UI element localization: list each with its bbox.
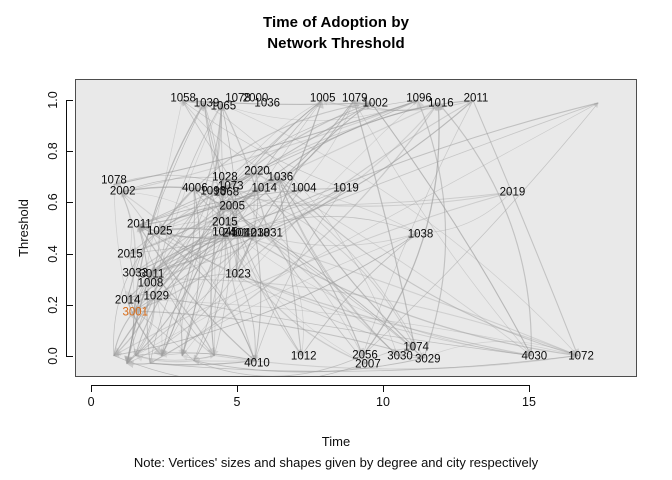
node-label: 1012 bbox=[291, 352, 317, 364]
node-label: 1004 bbox=[291, 183, 317, 195]
y-axis-tick-label: 0.4 bbox=[46, 245, 60, 262]
chart-root: Time of Adoption by Network Threshold 10… bbox=[0, 0, 672, 480]
y-axis-tick bbox=[66, 356, 73, 357]
node-label: 2015 bbox=[117, 249, 143, 261]
node-labels-layer: 1078200220111025201530333011100810292014… bbox=[76, 80, 636, 376]
x-axis-title: Time bbox=[0, 434, 672, 449]
node-label: 1023 bbox=[225, 269, 251, 281]
x-axis-tick bbox=[237, 385, 238, 392]
x-axis-tick bbox=[383, 385, 384, 392]
node-label: 2011 bbox=[464, 94, 489, 106]
node-label: 1036 bbox=[254, 99, 280, 111]
node-label: 2020 bbox=[244, 167, 270, 179]
x-axis-tick bbox=[91, 385, 92, 392]
node-label: 1016 bbox=[428, 99, 454, 111]
node-label: 1014 bbox=[252, 183, 278, 195]
node-label: 4030 bbox=[522, 352, 548, 364]
y-axis-tick bbox=[66, 151, 73, 152]
y-axis-tick-label: 0.8 bbox=[46, 142, 60, 159]
node-label: 1002 bbox=[362, 99, 388, 111]
node-label: 1073 bbox=[218, 181, 244, 193]
node-label: 3031 bbox=[257, 228, 283, 240]
chart-note: Note: Vertices' sizes and shapes given b… bbox=[0, 455, 672, 470]
y-axis-tick-label: 0.0 bbox=[46, 348, 60, 365]
x-axis-tick-label: 5 bbox=[234, 395, 241, 409]
node-label: 1038 bbox=[408, 230, 434, 242]
node-label: 2002 bbox=[110, 186, 136, 198]
x-axis-tick bbox=[529, 385, 530, 392]
x-axis-tick-label: 15 bbox=[522, 395, 536, 409]
node-label: 3029 bbox=[415, 354, 441, 366]
y-axis-tick-label: 0.2 bbox=[46, 296, 60, 313]
node-label: 2005 bbox=[219, 201, 245, 213]
node-label: 1029 bbox=[143, 291, 169, 303]
node-label: 1008 bbox=[138, 278, 164, 290]
node-label: 1025 bbox=[147, 226, 173, 238]
chart-title-line1: Time of Adoption by bbox=[0, 12, 672, 33]
y-axis-tick bbox=[66, 100, 73, 101]
node-label: 1058 bbox=[170, 94, 196, 106]
y-axis-line bbox=[66, 100, 67, 357]
node-label: 4010 bbox=[244, 358, 270, 370]
node-label: 1036 bbox=[268, 172, 294, 184]
y-axis-tick-label: 1.0 bbox=[46, 91, 60, 108]
plot-panel: 1078200220111025201530333011100810292014… bbox=[75, 79, 637, 377]
node-label: 2014 bbox=[115, 295, 141, 307]
y-axis-title: Threshold bbox=[16, 199, 31, 257]
node-label: 1005 bbox=[310, 94, 336, 106]
chart-title-line2: Network Threshold bbox=[0, 33, 672, 54]
x-axis-tick-label: 0 bbox=[88, 395, 95, 409]
x-axis-tick-label: 10 bbox=[376, 395, 390, 409]
node-label: 2019 bbox=[500, 187, 526, 199]
x-axis-line bbox=[91, 385, 529, 386]
node-label: 1072 bbox=[568, 352, 594, 364]
node-label: 1019 bbox=[333, 183, 359, 195]
chart-title: Time of Adoption by Network Threshold bbox=[0, 12, 672, 54]
y-axis-tick-label: 0.6 bbox=[46, 194, 60, 211]
y-axis-tick bbox=[66, 202, 73, 203]
node-label: 2007 bbox=[355, 359, 381, 371]
node-label: 3001 bbox=[122, 308, 148, 320]
y-axis-tick bbox=[66, 254, 73, 255]
y-axis-tick bbox=[66, 305, 73, 306]
